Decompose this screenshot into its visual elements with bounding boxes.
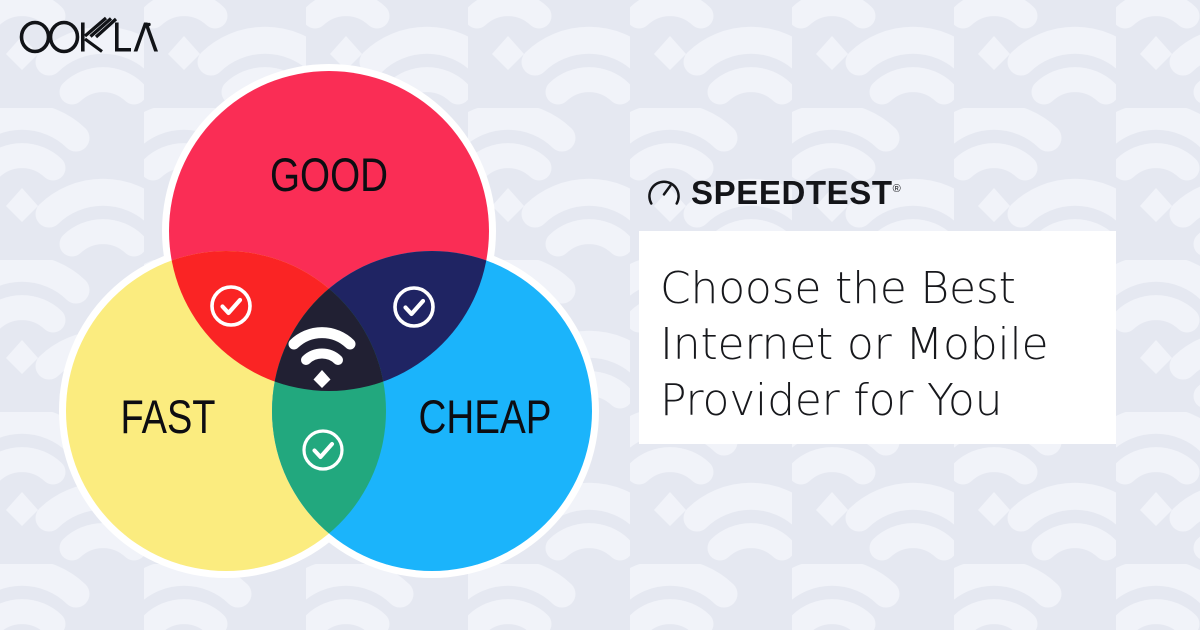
right-content-column: SPEEDTEST® Choose the Best Internet or M… [639, 170, 1119, 444]
screenshot-canvas: GOOD FAST CHEAP [0, 0, 1200, 630]
speedtest-wordmark: SPEEDTEST® [691, 176, 901, 209]
venn-label-cheap: CHEAP [419, 390, 552, 443]
speedtest-logo: SPEEDTEST® [647, 170, 1119, 214]
speedometer-icon [647, 175, 681, 209]
registered-trademark-mark: ® [893, 183, 901, 195]
speedtest-wordmark-text: SPEEDTEST [691, 174, 893, 211]
venn-diagram: GOOD FAST CHEAP [44, 50, 614, 590]
venn-label-good: GOOD [270, 148, 388, 201]
headline-line-1: Choose the Best [660, 261, 1088, 317]
headline-line-2: Internet or Mobile [660, 317, 1088, 373]
headline-line-3: Provider for You [660, 373, 1088, 429]
page-title: Choose the Best Internet or Mobile Provi… [660, 261, 1088, 429]
venn-label-fast: FAST [121, 390, 216, 443]
headline-card: Choose the Best Internet or Mobile Provi… [639, 231, 1116, 444]
